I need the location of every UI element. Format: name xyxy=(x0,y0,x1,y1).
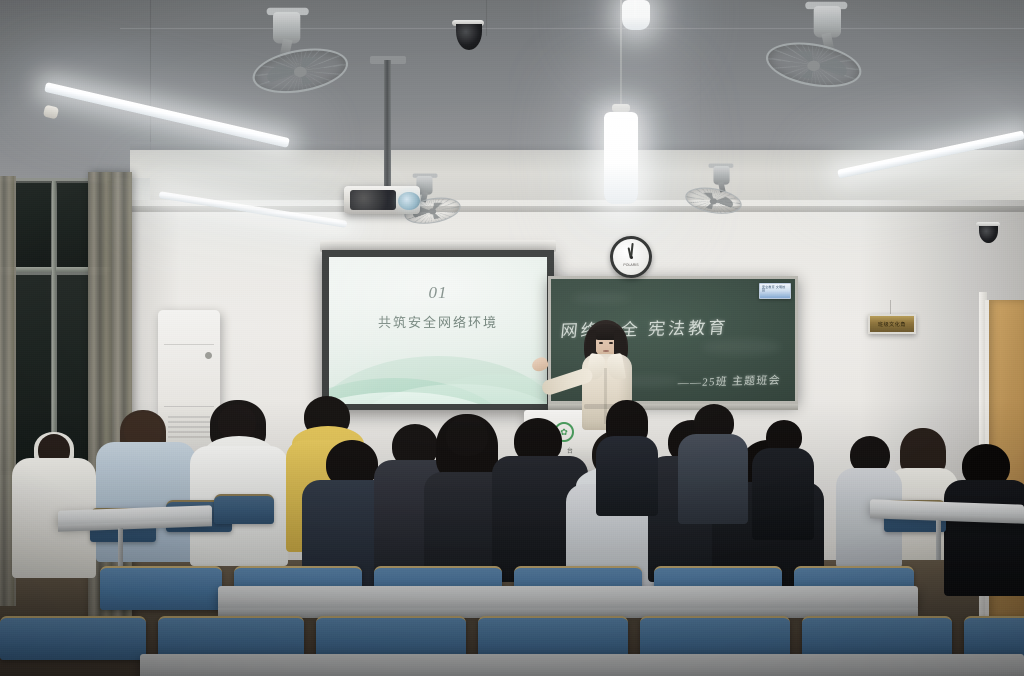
desk xyxy=(140,654,1024,676)
ceiling-seam xyxy=(486,0,487,36)
window-mullion xyxy=(52,181,56,475)
ceiling-seam xyxy=(0,96,1024,97)
ceiling-seam xyxy=(700,0,701,150)
chair[interactable] xyxy=(100,566,222,610)
desk-leg xyxy=(936,520,941,560)
wall-clock-icon: POLARIS xyxy=(610,236,652,278)
projector-pole xyxy=(384,60,391,190)
clock-brand: POLARIS xyxy=(613,263,649,267)
student-right-2 xyxy=(752,420,814,530)
student-front-1 xyxy=(596,400,658,500)
slide-number: 01 xyxy=(329,283,547,303)
ceiling-seam xyxy=(150,0,151,150)
wall-plaque: 班级文化角 xyxy=(868,314,916,334)
classroom-photo: 01 共筑安全网络环境 网络安全 宪法教育 ——25班 主题班会 安全教育 文明… xyxy=(0,0,1024,676)
projector-lens-icon xyxy=(398,192,420,210)
slide-surface: 01 共筑安全网络环境 xyxy=(329,257,547,404)
plaque-hook xyxy=(890,300,891,314)
desk-leg xyxy=(118,528,123,568)
projector-body-detail xyxy=(350,190,396,210)
pendant-cap xyxy=(612,104,630,112)
student-back-2 xyxy=(190,400,288,560)
pendant-lamp-icon xyxy=(604,112,638,204)
desk xyxy=(218,586,918,610)
student-left-1 xyxy=(16,432,96,572)
projection-screen[interactable]: 01 共筑安全网络环境 xyxy=(322,250,554,410)
student-front-3 xyxy=(836,436,902,556)
board-corner-sign: 安全教育 文明校园 xyxy=(759,283,791,299)
chair[interactable] xyxy=(214,494,274,524)
ceiling-seam xyxy=(120,28,1024,29)
chair[interactable] xyxy=(0,616,146,660)
student-front-2 xyxy=(678,404,748,514)
teacher-mouth xyxy=(603,350,609,352)
blackboard-subline: ——25班 主题班会 xyxy=(677,372,782,391)
pendant-lamp-icon xyxy=(622,0,650,30)
slide-title: 共筑安全网络环境 xyxy=(329,312,547,331)
